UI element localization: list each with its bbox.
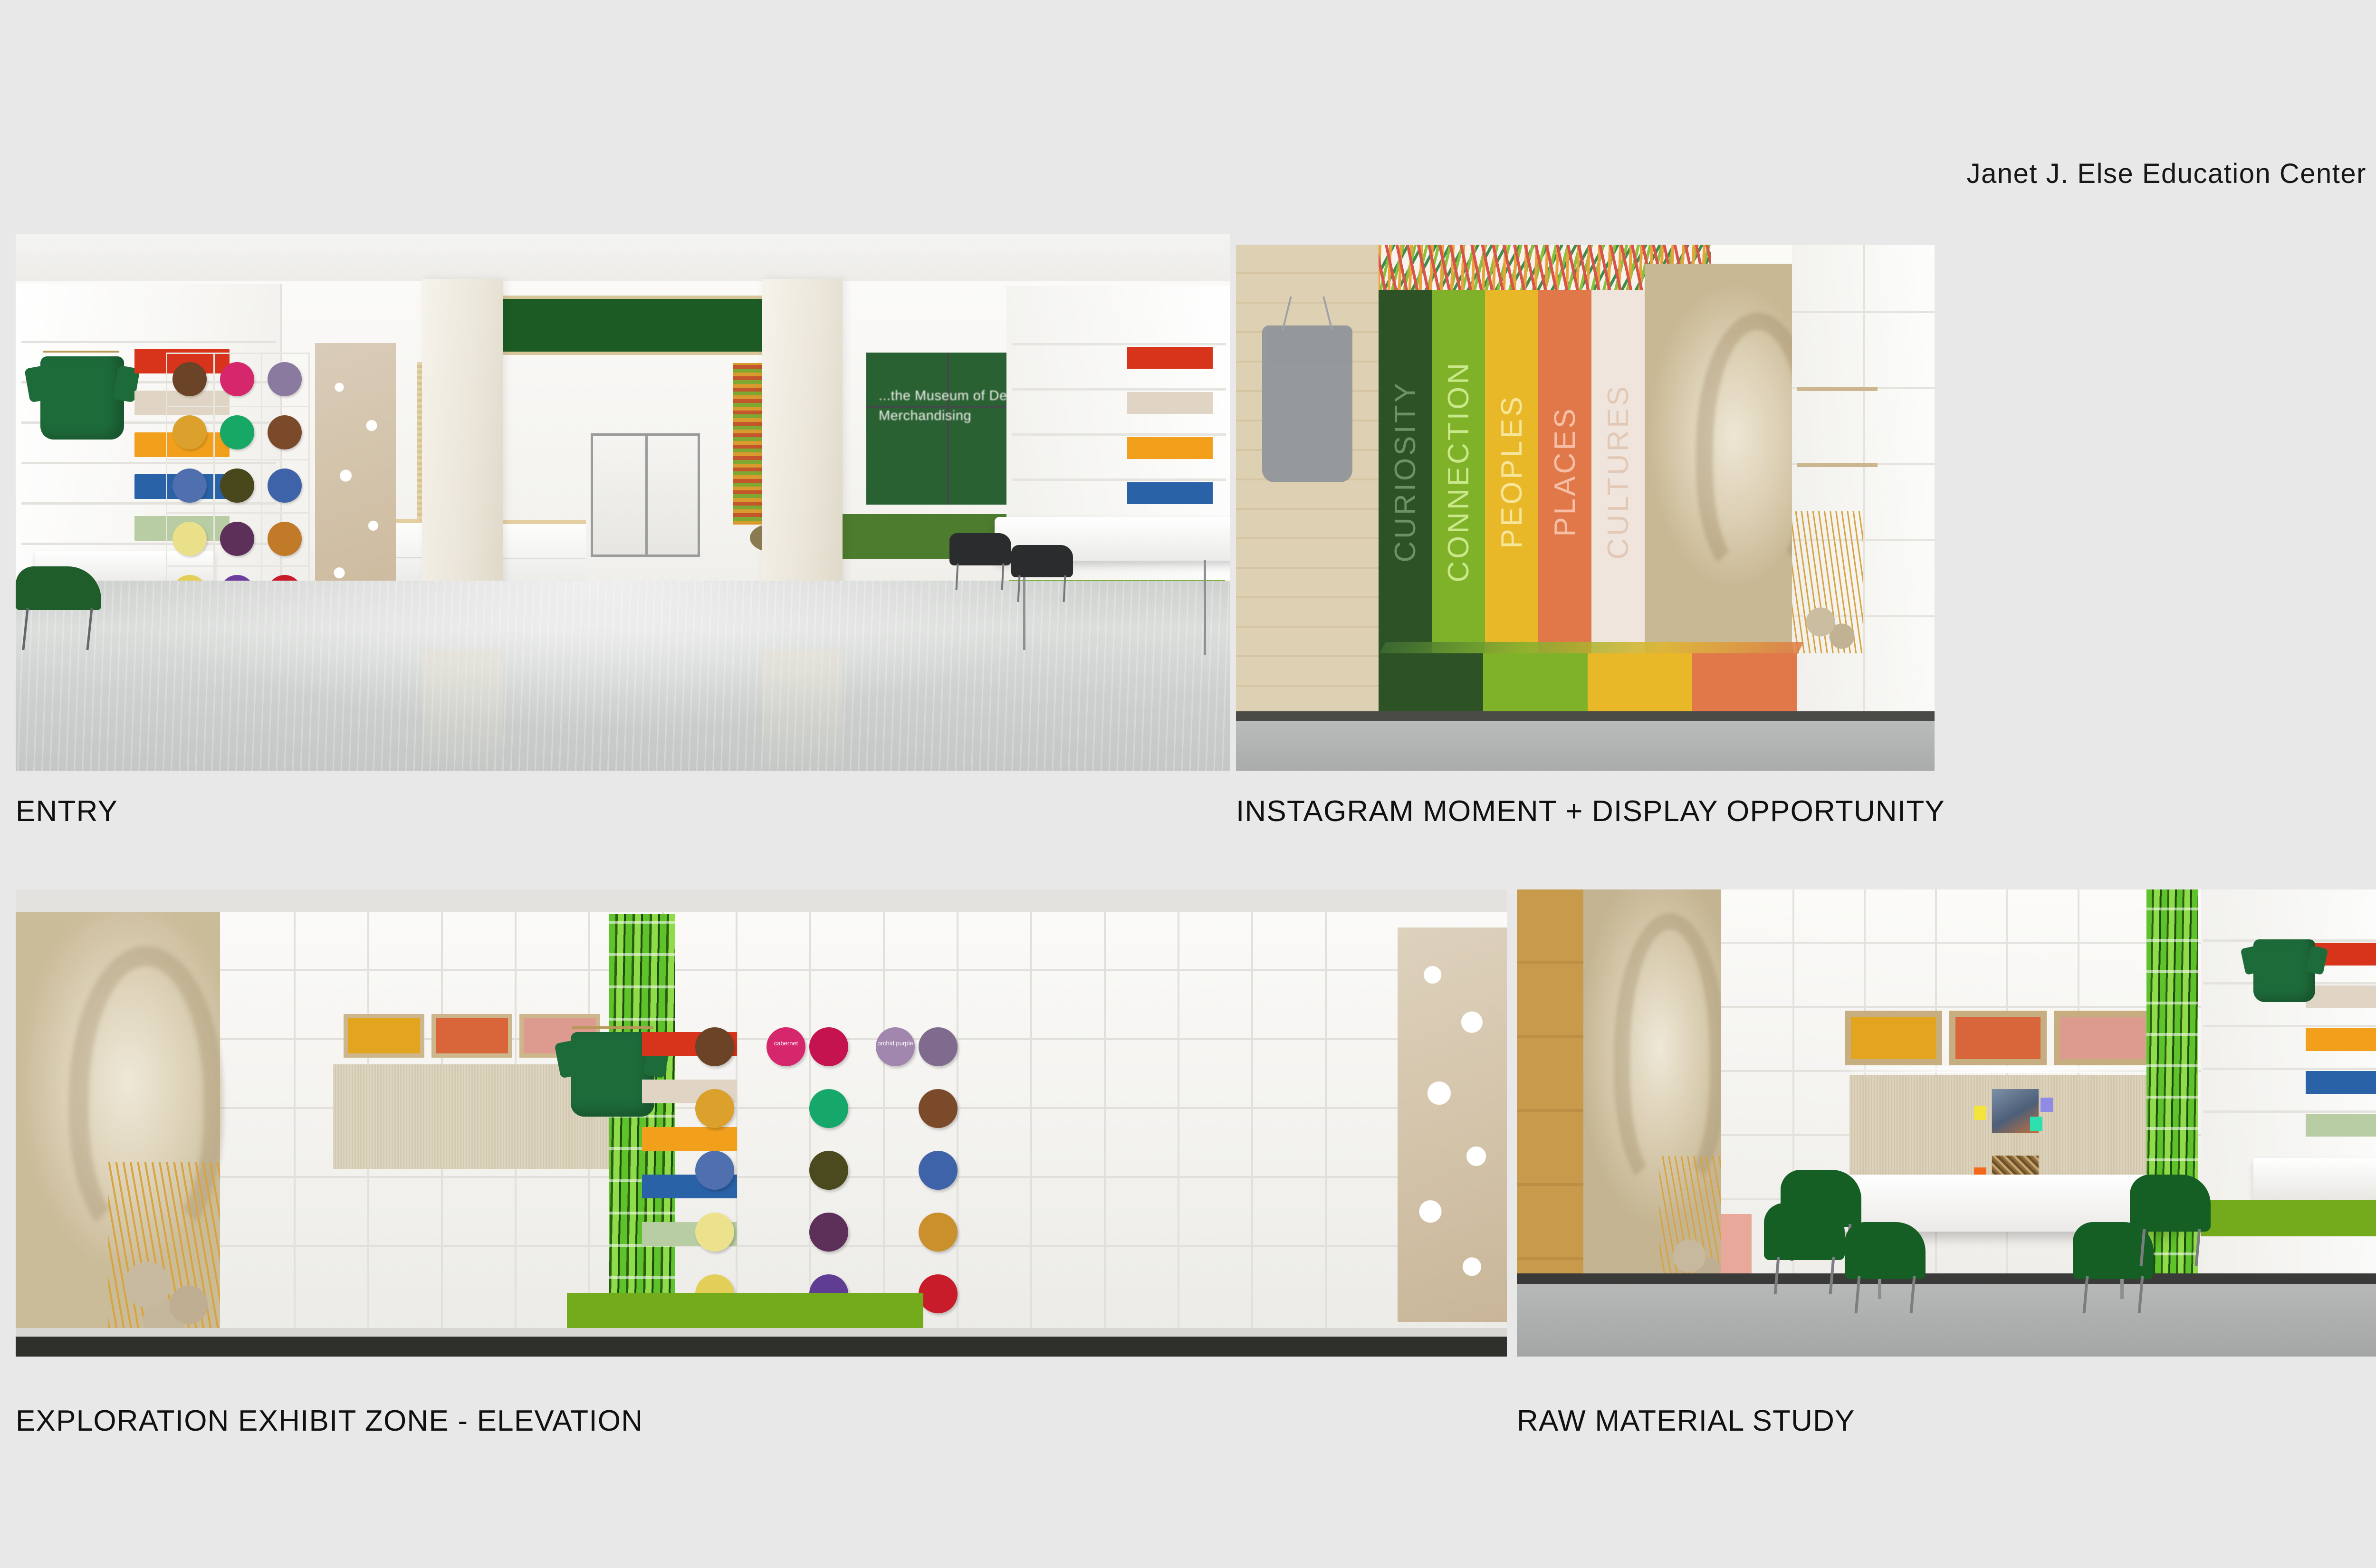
color-swatch — [268, 522, 302, 556]
caption-instagram-moment: INSTAGRAM MOMENT + DISPLAY OPPORTUNITY — [1236, 794, 1945, 828]
hanger-rod — [43, 351, 119, 353]
color-swatch-grid — [166, 353, 308, 619]
page-title: Janet J. Else Education Center — [1967, 158, 2366, 190]
wordmark-stripe-peoples: PEOPLES — [1485, 290, 1538, 653]
green-chair — [1764, 1203, 1845, 1293]
floor-shadow — [16, 1337, 1507, 1357]
render-image-exploration-exhibit-elevation[interactable]: cabernetorchid purple — [16, 889, 1507, 1357]
linen-panel — [333, 1064, 609, 1169]
wordmark-stripe-curiosity: CURIOSITY — [1379, 290, 1432, 653]
grid-line — [166, 353, 167, 619]
grid-line — [308, 353, 310, 619]
raw-fiber-display — [1659, 1156, 1731, 1284]
sticky-note — [1974, 1106, 1986, 1120]
cotton-boll-graphic — [1398, 927, 1507, 1322]
color-swatch — [268, 468, 302, 503]
grid-line — [166, 565, 308, 567]
raw-fiber-display — [1792, 511, 1863, 653]
caption-exploration-exhibit-elevation: EXPLORATION EXHIBIT ZONE - ELEVATION — [16, 1404, 643, 1438]
caption-raw-material-study: RAW MATERIAL STUDY — [1517, 1404, 1855, 1438]
color-swatch — [220, 522, 254, 556]
green-accent-band — [567, 1293, 923, 1328]
display-cubby — [344, 1014, 424, 1058]
green-chair — [1845, 1222, 1926, 1312]
wordmark-stripe-places: PLACES — [1538, 290, 1591, 653]
soffit — [16, 889, 1507, 912]
color-swatch — [695, 1027, 734, 1066]
polished-floor — [16, 581, 1230, 771]
color-swatch — [268, 362, 302, 396]
color-swatch-grid: cabernetorchid purple — [695, 1027, 952, 1293]
wordmark-label: PEOPLES — [1495, 394, 1529, 548]
color-swatch — [919, 1274, 958, 1313]
render-image-entry[interactable]: ...the Museum of Design and Merchandisin… — [16, 234, 1230, 771]
color-swatch — [919, 1151, 958, 1190]
sticky-note — [2030, 1117, 2042, 1131]
fiber-mural-wall — [1645, 264, 1816, 672]
under-shelf-light — [1849, 1066, 2173, 1073]
green-chair — [16, 566, 101, 652]
wordmark-stripe-cultures: CULTURES — [1591, 290, 1645, 653]
presentation-board: Janet J. Else Education Center ...the Mu… — [0, 0, 2376, 1568]
color-swatch — [809, 1151, 848, 1190]
raw-fiber-display — [108, 1162, 220, 1328]
wordmark-label: CULTURES — [1601, 384, 1635, 560]
hanger-rod — [572, 1026, 653, 1029]
double-doors — [591, 433, 700, 557]
render-image-instagram-moment[interactable]: CURIOSITYCONNECTIONPEOPLESPLACESCULTURES — [1236, 245, 1935, 771]
green-header-band — [477, 296, 809, 355]
right-grid-wall — [1792, 245, 1935, 771]
color-swatch — [695, 1089, 734, 1128]
sticky-note — [2041, 1098, 2053, 1112]
concrete-floor — [1517, 1284, 2376, 1357]
green-chair — [2130, 1175, 2211, 1265]
color-swatch — [172, 415, 207, 449]
color-swatch — [876, 1027, 915, 1066]
wordmark-stripe-connection: CONNECTION — [1432, 290, 1485, 653]
green-garment-display — [2253, 939, 2315, 1002]
display-cubby — [431, 1014, 512, 1058]
display-cubby — [2054, 1011, 2151, 1065]
task-chair — [949, 533, 1011, 590]
color-swatch — [268, 415, 302, 449]
color-swatch — [220, 468, 254, 503]
render-image-raw-material-study[interactable] — [1517, 889, 2376, 1357]
color-swatch — [695, 1151, 734, 1190]
wordmark-label: CONNECTION — [1442, 361, 1475, 583]
task-chair — [1011, 545, 1073, 602]
grid-line — [213, 353, 215, 619]
wood-shelf-wall — [1517, 889, 1588, 1284]
color-swatch — [220, 362, 254, 396]
color-swatch — [809, 1213, 848, 1252]
display-cubby — [1845, 1011, 1942, 1065]
color-swatch — [766, 1027, 805, 1066]
wordmark-label: PLACES — [1548, 406, 1582, 537]
color-swatch — [172, 362, 207, 396]
caption-entry: ENTRY — [16, 794, 118, 828]
color-swatch — [919, 1027, 958, 1066]
apron-display — [1262, 325, 1352, 482]
grid-line — [261, 353, 262, 619]
green-garment-display — [40, 356, 124, 440]
wordmark-stripe-wall: CURIOSITYCONNECTIONPEOPLESPLACESCULTURES — [1379, 290, 1645, 653]
color-swatch — [809, 1089, 848, 1128]
wordmark-label: CURIOSITY — [1389, 381, 1422, 563]
color-swatch — [172, 468, 207, 503]
grid-line — [166, 512, 308, 514]
display-counter — [2253, 1158, 2376, 1201]
color-swatch — [809, 1027, 848, 1066]
color-swatch — [919, 1089, 958, 1128]
display-cubby — [1949, 1011, 2047, 1065]
color-swatch — [919, 1213, 958, 1252]
concrete-floor — [1236, 721, 1935, 771]
wood-slat-wall — [1236, 245, 1379, 771]
color-swatch — [220, 415, 254, 449]
grid-line — [166, 406, 308, 407]
grid-line — [166, 353, 308, 354]
color-swatch — [695, 1213, 734, 1252]
grid-line — [166, 459, 308, 460]
color-swatch — [172, 522, 207, 556]
